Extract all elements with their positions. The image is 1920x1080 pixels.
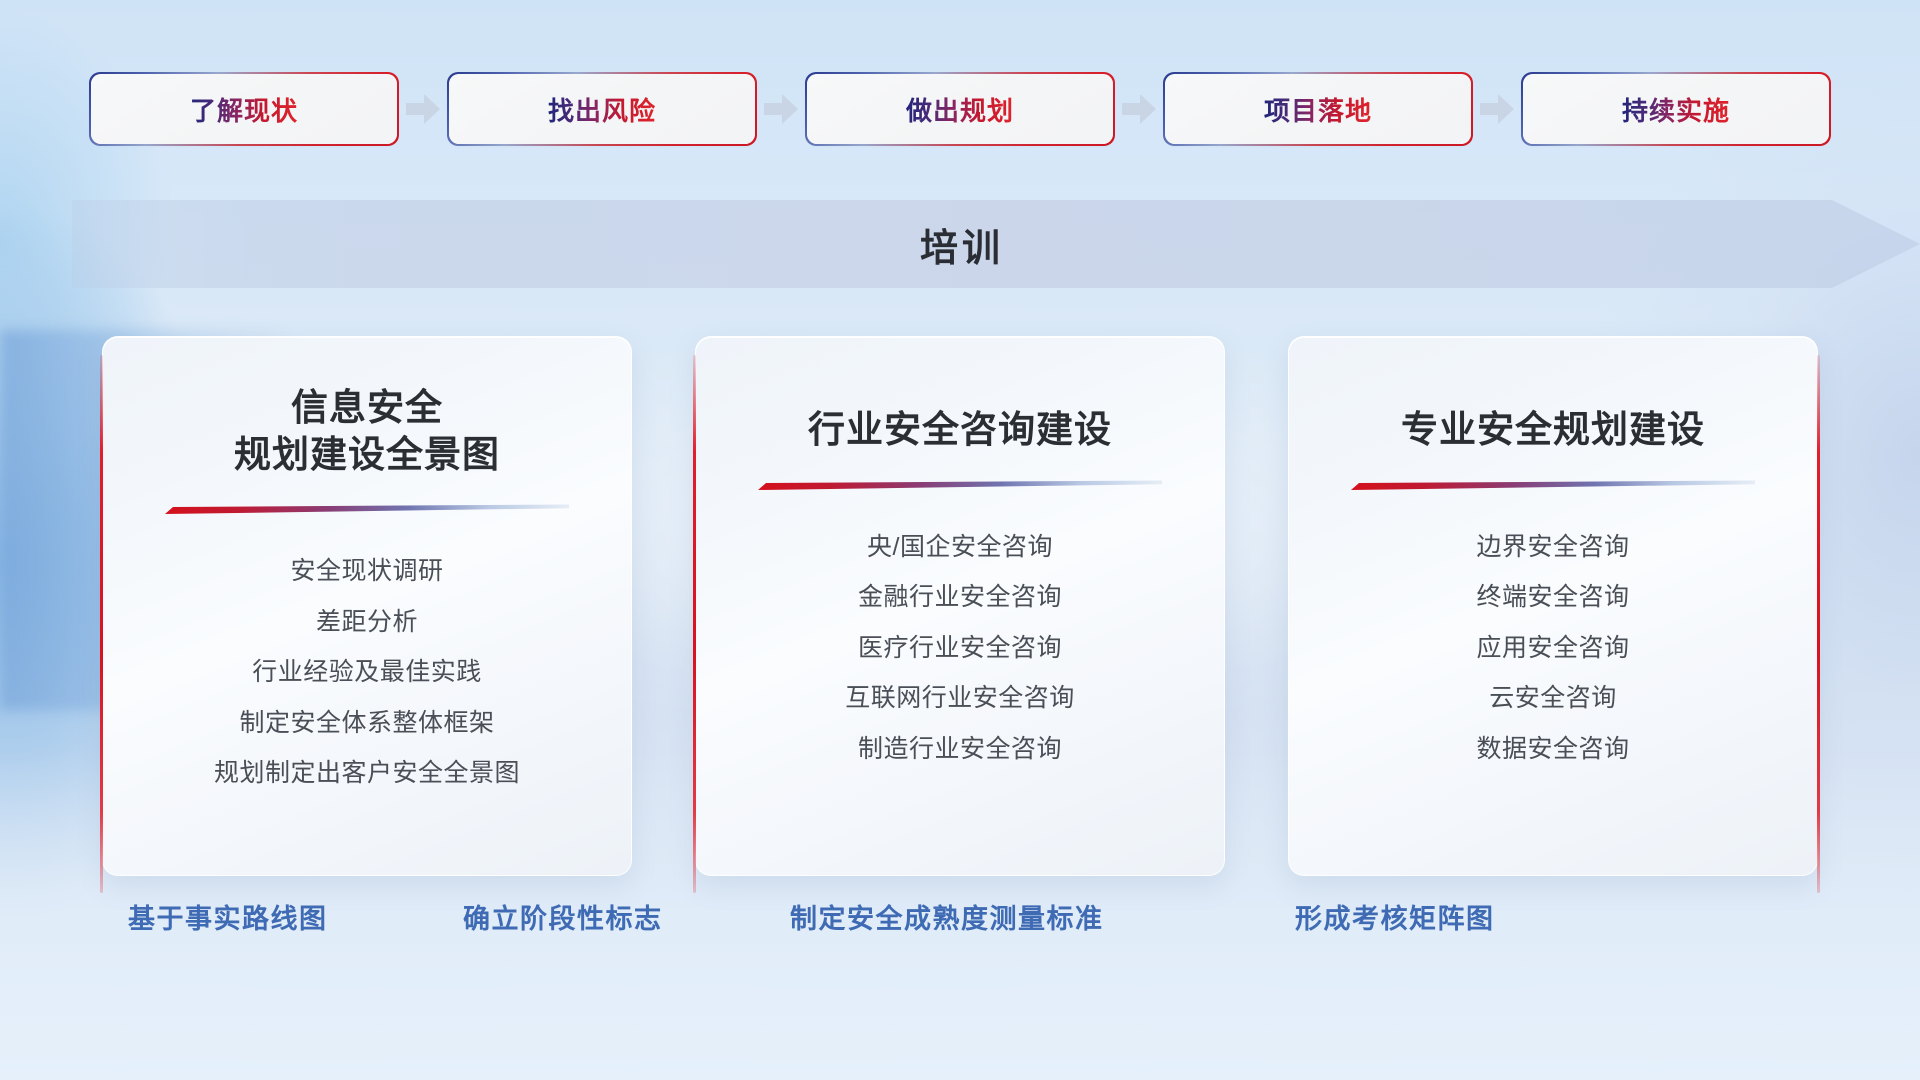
list-item: 行业经验及最佳实践 [252,651,482,694]
card-title: 信息安全 规划建设全景图 [234,385,500,478]
card-divider [165,504,569,516]
step-box-4[interactable]: 项目落地 [1165,74,1471,144]
cards-row: 信息安全 规划建设全景图安全现状调研差距分析行业经验及最佳实践制定安全体系整体框… [0,336,1920,876]
right-arrow-icon [397,74,449,144]
bottom-label-4: 形成考核矩阵图 [1295,896,1495,942]
card-accent-edge [1817,355,1820,893]
card-accent-edge [693,355,696,893]
card-accent-edge [100,355,103,893]
right-arrow-icon [1113,74,1165,144]
step-label: 持续实施 [1622,91,1730,128]
banner-label: 培训 [72,200,1852,288]
step-box-3[interactable]: 做出规划 [807,74,1113,144]
list-item: 制定安全体系整体框架 [239,702,494,745]
list-item: 安全现状调研 [290,550,443,593]
card-item-list: 安全现状调研差距分析行业经验及最佳实践制定安全体系整体框架规划制定出客户安全全景… [214,550,520,795]
step-box-1[interactable]: 了解现状 [91,74,397,144]
card-title: 专业安全规划建设 [1401,407,1705,454]
list-item: 数据安全咨询 [1476,728,1629,771]
training-banner: 培训 [72,200,1920,288]
step-label: 项目落地 [1264,91,1372,128]
step-box-2[interactable]: 找出风险 [449,74,755,144]
process-steps: 了解现状找出风险做出规划项目落地持续实施 [0,74,1920,144]
card-title: 行业安全咨询建设 [808,407,1112,454]
card-item-list: 边界安全咨询终端安全咨询应用安全咨询云安全咨询数据安全咨询 [1476,526,1629,771]
card-item-list: 央/国企安全咨询金融行业安全咨询医疗行业安全咨询互联网行业安全咨询制造行业安全咨… [845,526,1075,771]
bottom-label-3: 制定安全成熟度测量标准 [790,896,1104,942]
list-item: 应用安全咨询 [1476,627,1629,670]
bottom-labels-row: 基于事实路线图确立阶段性标志制定安全成熟度测量标准形成考核矩阵图 [0,896,1920,956]
list-item: 医疗行业安全咨询 [858,627,1062,670]
step-box-5[interactable]: 持续实施 [1523,74,1829,144]
list-item: 边界安全咨询 [1476,526,1629,569]
step-label: 做出规划 [906,91,1014,128]
list-item: 央/国企安全咨询 [867,526,1053,569]
card-divider [758,480,1162,492]
card-3[interactable]: 专业安全规划建设边界安全咨询终端安全咨询应用安全咨询云安全咨询数据安全咨询 [1288,336,1818,876]
list-item: 云安全咨询 [1489,677,1617,720]
list-item: 规划制定出客户安全全景图 [214,752,520,795]
list-item: 制造行业安全咨询 [858,728,1062,771]
step-label: 找出风险 [548,91,656,128]
card-1[interactable]: 信息安全 规划建设全景图安全现状调研差距分析行业经验及最佳实践制定安全体系整体框… [102,336,632,876]
bottom-label-2: 确立阶段性标志 [463,896,663,942]
list-item: 金融行业安全咨询 [858,576,1062,619]
right-arrow-icon [1471,74,1523,144]
card-2[interactable]: 行业安全咨询建设央/国企安全咨询金融行业安全咨询医疗行业安全咨询互联网行业安全咨… [695,336,1225,876]
card-divider [1351,480,1755,492]
step-label: 了解现状 [190,91,298,128]
bottom-label-1: 基于事实路线图 [128,896,328,942]
list-item: 终端安全咨询 [1476,576,1629,619]
list-item: 差距分析 [316,601,418,644]
list-item: 互联网行业安全咨询 [845,677,1075,720]
right-arrow-icon [755,74,807,144]
